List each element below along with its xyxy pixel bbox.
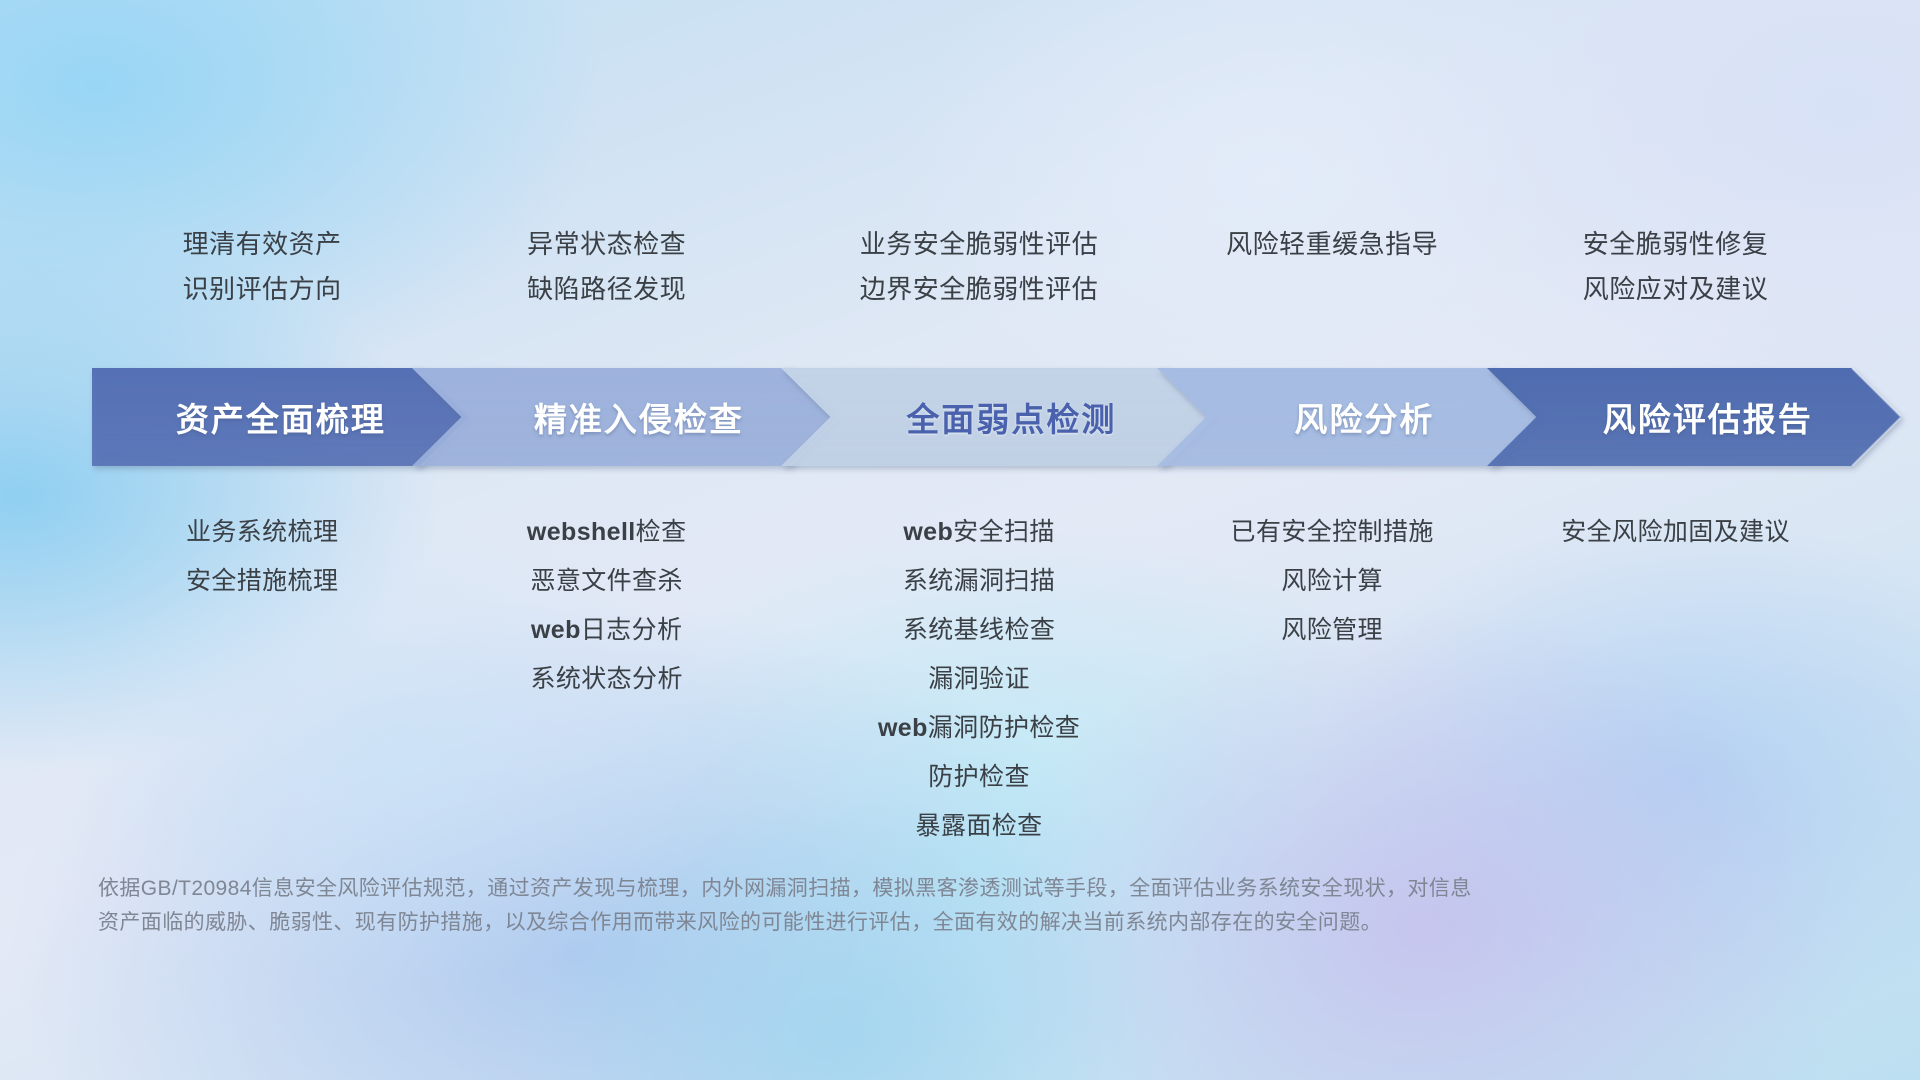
caption-line-2: 资产面临的威胁、脆弱性、现有防护措施，以及综合作用而带来风险的可能性进行评估，全… (98, 906, 1598, 940)
list-item: 系统漏洞扫描 (903, 557, 1055, 606)
top-labels-3: 业务安全脆弱性评估边界安全脆弱性评估 (860, 228, 1099, 305)
detail-list-5: 安全风险加固及建议 (1561, 508, 1790, 557)
process-diagram: 理清有效资产识别评估方向异常状态检查缺陷路径发现业务安全脆弱性评估边界安全脆弱性… (0, 0, 1920, 1080)
detail-list-4: 已有安全控制措施风险计算风险管理 (1231, 508, 1434, 655)
top-label-text: 业务安全脆弱性评估 (860, 228, 1099, 261)
list-item: 漏洞验证 (928, 655, 1030, 704)
top-labels-4: 风险轻重缓急指导 (1226, 228, 1438, 261)
list-item: web安全扫描 (903, 508, 1054, 557)
list-item: 安全措施梳理 (186, 557, 338, 606)
chevron-label-4: 风险分析 (1294, 393, 1434, 441)
list-item: 风险计算 (1281, 557, 1383, 606)
top-labels-row: 理清有效资产识别评估方向异常状态检查缺陷路径发现业务安全脆弱性评估边界安全脆弱性… (0, 228, 1920, 348)
top-labels-1: 理清有效资产识别评估方向 (183, 228, 342, 305)
top-label-text: 风险轻重缓急指导 (1226, 228, 1438, 261)
list-item: 系统基线检查 (903, 606, 1055, 655)
detail-list-3: web安全扫描系统漏洞扫描系统基线检查漏洞验证web漏洞防护检查防护检查暴露面检… (878, 508, 1080, 851)
top-label-text: 缺陷路径发现 (527, 273, 686, 306)
top-label-text: 异常状态检查 (527, 228, 686, 261)
list-item: 暴露面检查 (916, 802, 1043, 851)
detail-lists: 业务系统梳理安全措施梳理webshell检查恶意文件查杀web日志分析系统状态分… (0, 508, 1920, 858)
chevron-2[interactable]: 精准入侵检查 (412, 368, 839, 466)
top-labels-2: 异常状态检查缺陷路径发现 (527, 228, 686, 305)
top-labels-5: 安全脆弱性修复风险应对及建议 (1583, 228, 1769, 305)
top-label-text: 识别评估方向 (183, 273, 342, 306)
list-item: web漏洞防护检查 (878, 704, 1080, 753)
list-item: webshell检查 (527, 508, 687, 557)
chevron-3[interactable]: 全面弱点检测 (781, 368, 1215, 466)
chevron-label-1: 资产全面梳理 (176, 393, 386, 441)
footer-caption: 依据GB/T20984信息安全风险评估规范，通过资产发现与梳理，内外网漏洞扫描，… (98, 872, 1598, 940)
list-item: 业务系统梳理 (186, 508, 338, 557)
top-label-text: 理清有效资产 (183, 228, 342, 261)
top-label-text: 安全脆弱性修复 (1583, 228, 1769, 261)
chevron-label-3: 全面弱点检测 (906, 393, 1116, 441)
chevron-5[interactable]: 风险评估报告 (1487, 368, 1901, 466)
caption-line-1: 依据GB/T20984信息安全风险评估规范，通过资产发现与梳理，内外网漏洞扫描，… (98, 872, 1598, 906)
list-item: 风险管理 (1281, 606, 1383, 655)
list-item: 已有安全控制措施 (1231, 508, 1434, 557)
list-item: 安全风险加固及建议 (1561, 508, 1790, 557)
chevron-label-5: 风险评估报告 (1603, 393, 1813, 441)
list-item: 系统状态分析 (530, 655, 682, 704)
top-label-text: 风险应对及建议 (1583, 273, 1769, 306)
chevron-band: 资产全面梳理精准入侵检查全面弱点检测风险分析风险评估报告 (92, 368, 1852, 466)
chevron-label-2: 精准入侵检查 (534, 393, 744, 441)
list-item: web日志分析 (531, 606, 682, 655)
top-label-text: 边界安全脆弱性评估 (860, 273, 1099, 306)
detail-list-1: 业务系统梳理安全措施梳理 (186, 508, 338, 606)
detail-list-2: webshell检查恶意文件查杀web日志分析系统状态分析 (527, 508, 687, 704)
list-item: 恶意文件查杀 (530, 557, 682, 606)
list-item: 防护检查 (928, 753, 1030, 802)
